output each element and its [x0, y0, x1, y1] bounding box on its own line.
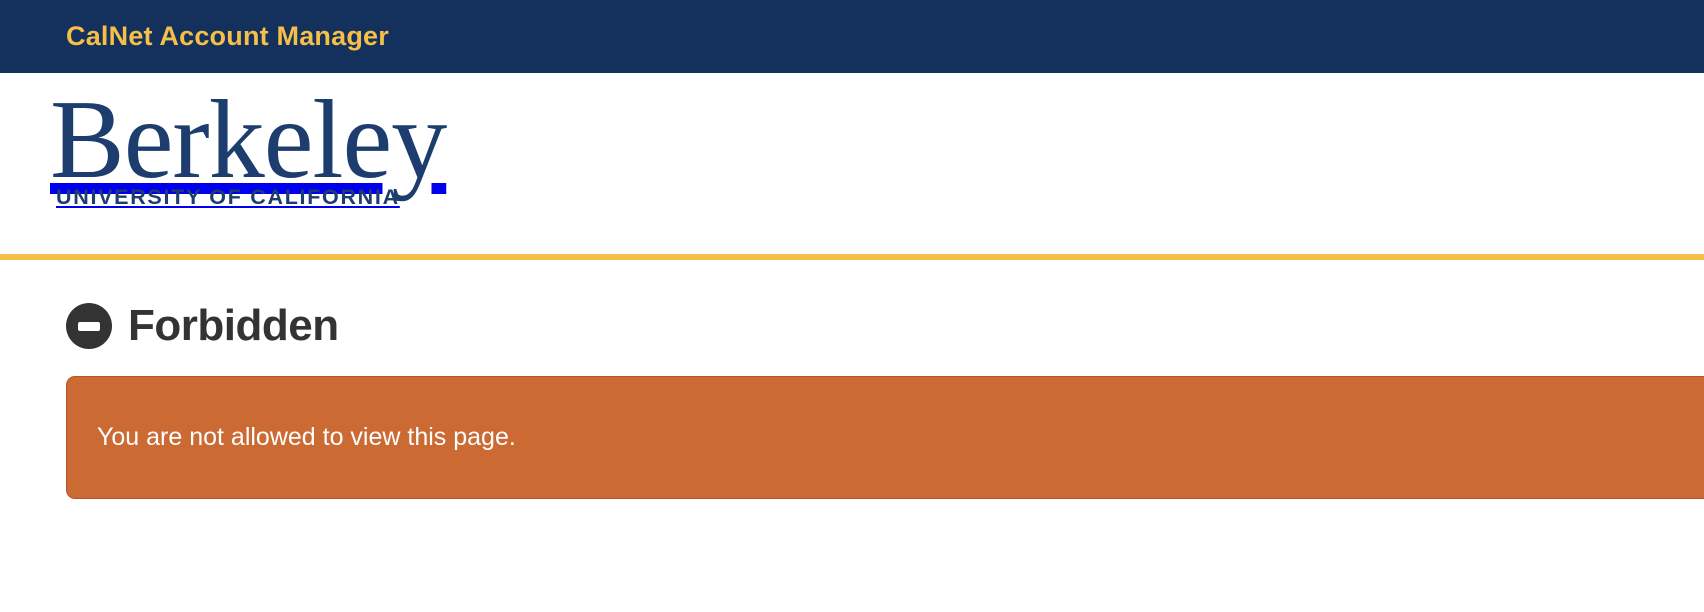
circle-minus-icon [66, 303, 112, 349]
page-heading: Forbidden [0, 298, 1704, 354]
error-alert: You are not allowed to view this page. [66, 376, 1704, 499]
berkeley-wordmark: Berkeley [50, 87, 470, 193]
circle-minus-bar [78, 322, 100, 331]
berkeley-logo[interactable]: Berkeley UNIVERSITY OF CALIFORNIA [50, 87, 470, 210]
app-title: CalNet Account Manager [66, 23, 389, 50]
app-header: CalNet Account Manager [0, 0, 1704, 73]
brand-band: Berkeley UNIVERSITY OF CALIFORNIA [0, 73, 1704, 254]
main-content: Forbidden You are not allowed to view th… [0, 260, 1704, 499]
page-title: Forbidden [128, 304, 339, 348]
error-alert-message: You are not allowed to view this page. [97, 421, 516, 454]
